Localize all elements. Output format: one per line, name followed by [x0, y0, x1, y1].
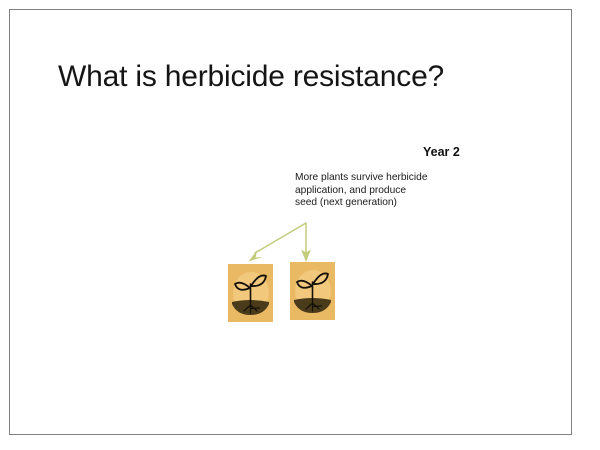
year-label: Year 2: [423, 145, 460, 159]
seedling-icon: [290, 262, 335, 320]
presentation-slide: What is herbicide resistance? Year 2 Mor…: [0, 0, 600, 450]
caption-line-3: seed (next generation): [295, 197, 420, 210]
seedling-left: [228, 264, 273, 322]
caption-line-1: More plants survive herbicide: [295, 172, 420, 185]
caption-text-block: More plants survive herbicide applicatio…: [295, 172, 420, 210]
seedling-icon: [228, 264, 273, 322]
seedling-right: [290, 262, 335, 320]
page-title: What is herbicide resistance?: [58, 60, 444, 94]
arrow-to-left-plant: [249, 223, 307, 262]
caption-line-2: application, and produce: [295, 185, 420, 198]
arrow-to-right-plant: [301, 223, 311, 262]
